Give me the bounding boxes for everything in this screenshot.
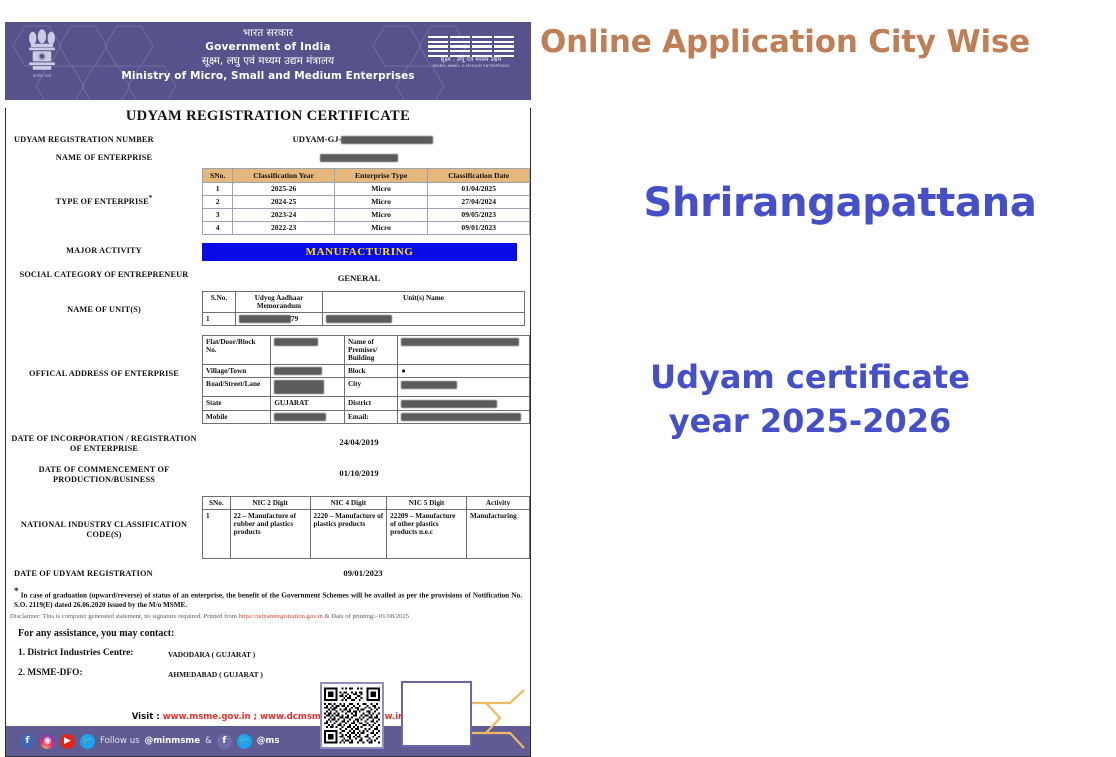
cell-activity: Manufacturing — [467, 509, 530, 558]
major-activity-row: MAJOR ACTIVITY MANUFACTURING — [6, 243, 530, 261]
cell-sno: 4 — [203, 221, 233, 234]
registration-number-label: UDYAM REGISTRATION NUMBER — [6, 134, 210, 145]
redacted-city — [401, 381, 457, 389]
handle-minmsme[interactable]: @minmsme — [145, 736, 200, 746]
promo-city-name: Shrirangapattana — [564, 180, 1116, 226]
redacted-district — [401, 400, 497, 408]
instagram-icon[interactable]: ◉ — [40, 734, 55, 749]
follow-us-text: Follow us — [100, 736, 140, 746]
visit-prefix: Visit : — [132, 712, 163, 722]
registration-number-row: UDYAM REGISTRATION NUMBER UDYAM-GJ- — [6, 134, 530, 145]
major-activity-label: MAJOR ACTIVITY — [6, 243, 202, 256]
table-row: Road/Street/Lane City — [203, 378, 530, 397]
table-row: 2 2024-25 Micro 27/04/2024 — [203, 195, 530, 208]
registration-number-prefix: UDYAM-GJ- — [293, 134, 342, 144]
classification-header-type: Enterprise Type — [334, 168, 428, 182]
nic-table-header-row: SNo. NIC 2 Digit NIC 4 Digit NIC 5 Digit… — [203, 496, 530, 509]
unit-table-header-row: S.No. Udyog Aadhaar Memorandum Unit(s) N… — [203, 291, 525, 312]
enterprise-name-label: NAME OF ENTERPRISE — [6, 152, 202, 163]
promo-subtitle: Udyam certificate year 2025-2026 — [560, 355, 1060, 443]
redacted-registration-number — [341, 136, 433, 144]
cell-uam: 79 — [236, 312, 323, 325]
incorporation-label: DATE OF INCORPORATION / REGISTRATION OF … — [6, 433, 202, 455]
redacted-unit-name — [326, 315, 392, 323]
city-value — [398, 378, 530, 397]
cell-sno: 1 — [203, 509, 231, 558]
enterprise-type-star: * — [149, 194, 153, 202]
enterprise-type-label: TYPE OF ENTERPRISE* — [6, 168, 202, 207]
dic-value: VADODARA ( GUJARAT ) — [168, 648, 255, 659]
road-label: Road/Street/Lane — [203, 378, 271, 397]
state-value: GUJARAT — [271, 397, 345, 410]
cell-sno: 3 — [203, 208, 233, 221]
unit-name-row: NAME OF UNIT(S) S.No. Udyog Aadhaar Memo… — [6, 291, 530, 326]
social-category-row: SOCIAL CATEGORY OF ENTREPRENEUR GENERAL — [6, 269, 530, 283]
flat-value — [271, 336, 345, 365]
cell-year: 2023-24 — [233, 208, 335, 221]
cell-sno: 1 — [203, 312, 236, 325]
udyam-registration-date-row: DATE OF UDYAM REGISTRATION 09/01/2023 — [6, 568, 530, 579]
cell-date: 09/05/2023 — [428, 208, 530, 221]
cell-sno: 1 — [203, 182, 233, 195]
classification-header-sno: SNo. — [203, 168, 233, 182]
nic-row: NATIONAL INDUSTRY CLASSIFICATION CODE(S)… — [6, 496, 530, 559]
nic-table: SNo. NIC 2 Digit NIC 4 Digit NIC 5 Digit… — [202, 496, 530, 559]
udyam-portal-link[interactable]: https://udyamregistration.gov.in — [239, 613, 323, 620]
udyam-registration-date-value: 09/01/2023 — [210, 568, 530, 578]
qr-code-icon — [324, 686, 380, 745]
cell-year: 2025-26 — [233, 182, 335, 195]
uam-suffix: 79 — [291, 315, 298, 323]
incorporation-value: 24/04/2019 — [202, 433, 530, 447]
msme-logo-icon: सूक्ष्म , लघु एवं मध्यम उद्यम MICRO, SMA… — [423, 36, 519, 68]
district-label: District — [344, 397, 397, 410]
table-row: Mobile Email: — [203, 410, 530, 423]
ampersand-text: & — [205, 736, 212, 746]
redacted-road — [274, 380, 324, 394]
udyam-certificate: सत्यमेव जयते भारत सरकार Government of In… — [5, 22, 531, 750]
state-label: State — [203, 397, 271, 410]
unit-name-label: NAME OF UNIT(S) — [6, 291, 202, 315]
facebook-icon-2[interactable]: f — [217, 734, 232, 749]
enterprise-type-row: TYPE OF ENTERPRISE* SNo. Classification … — [6, 168, 530, 235]
cell-year: 2022-23 — [233, 221, 335, 234]
premises-label: Name of Premises/ Building — [344, 336, 397, 365]
classification-header-year: Classification Year — [233, 168, 335, 182]
nic-header-2digit: NIC 2 Digit — [230, 496, 310, 509]
village-label: Village/Town — [203, 365, 271, 378]
address-table: Flat/Door/Block No. Name of Premises/ Bu… — [202, 335, 530, 424]
mobile-value — [271, 410, 345, 423]
incorporation-row: DATE OF INCORPORATION / REGISTRATION OF … — [6, 433, 530, 455]
youtube-icon[interactable]: ▶ — [60, 734, 75, 749]
cell-unit-name — [323, 312, 525, 325]
village-value — [271, 365, 345, 378]
cell-type: Micro — [334, 182, 428, 195]
promo-subtitle-line2: year 2025-2026 — [560, 399, 1060, 443]
classification-table: SNo. Classification Year Enterprise Type… — [202, 168, 530, 235]
redacted-village — [274, 367, 322, 375]
table-row: 1 79 — [203, 312, 525, 325]
table-row: State GUJARAT District — [203, 397, 530, 410]
twitter-icon[interactable]: 🐦 — [80, 734, 95, 749]
udyam-registration-date-label: DATE OF UDYAM REGISTRATION — [6, 568, 210, 579]
handle-msme[interactable]: @ms — [257, 736, 280, 746]
redacted-premises — [401, 338, 519, 346]
dfo-label: 2. MSME-DFO: — [18, 668, 168, 679]
cell-year: 2024-25 — [233, 195, 335, 208]
major-activity-value: MANUFACTURING — [202, 243, 517, 261]
address-label: OFFICAL ADDRESS OF ENTERPRISE — [6, 335, 202, 379]
block-value: ● — [398, 365, 530, 378]
disclaimer-text: Disclaimer: This is computer generated s… — [10, 613, 526, 620]
table-row: 4 2022-23 Micro 09/01/2023 — [203, 221, 530, 234]
social-category-label: SOCIAL CATEGORY OF ENTREPRENEUR — [6, 269, 202, 280]
commencement-row: DATE OF COMMENCEMENT OF PRODUCTION/BUSIN… — [6, 464, 530, 486]
email-value — [398, 410, 530, 423]
enterprise-name-row: NAME OF ENTERPRISE — [6, 152, 530, 163]
enterprise-type-label-text: TYPE OF ENTERPRISE — [56, 196, 149, 205]
road-value — [271, 378, 345, 397]
promo-panel: Online Application City Wise Shrirangapa… — [540, 0, 1116, 753]
cell-date: 27/04/2024 — [428, 195, 530, 208]
dfo-value: AHMEDABAD ( GUJARAT ) — [168, 668, 263, 679]
disclaimer-prefix: Disclaimer: This is computer generated s… — [10, 613, 239, 620]
cell-type: Micro — [334, 221, 428, 234]
disclaimer-suffix: & Date of printing:- 01/08/2025 — [323, 613, 409, 620]
table-row: Village/Town Block ● — [203, 365, 530, 378]
cell-type: Micro — [334, 195, 428, 208]
cell-nic2: 22 – Manufacture of rubber and plastics … — [230, 509, 310, 558]
redacted-enterprise-name — [320, 154, 398, 162]
dic-label: 1. District Industries Centre: — [18, 648, 168, 659]
unit-header-name: Unit(s) Name — [323, 291, 525, 312]
unit-header-uam: Udyog Aadhaar Memorandum — [236, 291, 323, 312]
footnote-text: In case of graduation (upward/reverse) o… — [14, 591, 522, 609]
cell-nic5: 22209 – Manufacture of other plastics pr… — [387, 509, 467, 558]
unit-table: S.No. Udyog Aadhaar Memorandum Unit(s) N… — [202, 291, 525, 326]
table-row: 1 22 – Manufacture of rubber and plastic… — [203, 509, 530, 558]
address-row: OFFICAL ADDRESS OF ENTERPRISE Flat/Door/… — [6, 335, 530, 424]
cell-date: 01/04/2025 — [428, 182, 530, 195]
district-value — [398, 397, 530, 410]
mobile-label: Mobile — [203, 410, 271, 423]
social-category-value: GENERAL — [202, 269, 530, 283]
enterprise-name-value — [202, 152, 530, 162]
promo-title: Online Application City Wise — [540, 24, 1116, 60]
msme-logo-english: MICRO, SMALL & MEDIUM ENTERPRISES — [423, 64, 519, 68]
classification-table-wrap: SNo. Classification Year Enterprise Type… — [202, 168, 530, 235]
nic-label: NATIONAL INDUSTRY CLASSIFICATION CODE(S) — [6, 496, 202, 541]
premises-value — [398, 336, 530, 365]
email-label: Email: — [344, 410, 397, 423]
redacted-mobile — [274, 413, 326, 421]
footnote-star-icon: * — [14, 586, 19, 596]
qr-code[interactable] — [320, 682, 384, 749]
twitter-icon-2[interactable]: 🐦 — [237, 734, 252, 749]
contact-row-dic: 1. District Industries Centre: VADODARA … — [18, 648, 530, 659]
redacted-uam — [239, 315, 291, 323]
table-row: 1 2025-26 Micro 01/04/2025 — [203, 182, 530, 195]
cell-sno: 2 — [203, 195, 233, 208]
table-row: Flat/Door/Block No. Name of Premises/ Bu… — [203, 336, 530, 365]
promo-subtitle-line1: Udyam certificate — [560, 355, 1060, 399]
commencement-label: DATE OF COMMENCEMENT OF PRODUCTION/BUSIN… — [6, 464, 202, 486]
assistance-heading: For any assistance, you may contact: — [18, 628, 530, 639]
city-label: City — [344, 378, 397, 397]
commencement-value: 01/10/2019 — [202, 464, 530, 478]
redacted-email — [401, 413, 521, 421]
unit-header-sno: S.No. — [203, 291, 236, 312]
facebook-icon[interactable]: f — [20, 734, 35, 749]
graduation-footnote: * In case of graduation (upward/reverse)… — [14, 585, 522, 611]
contact-row-dfo: 2. MSME-DFO: AHMEDABAD ( GUJARAT ) — [18, 668, 530, 679]
nic-header-4digit: NIC 4 Digit — [310, 496, 387, 509]
certificate-body: UDYAM REGISTRATION CERTIFICATE UDYAM REG… — [5, 108, 531, 757]
cell-nic4: 2220 – Manufacture of plastics products — [310, 509, 387, 558]
nic-header-5digit: NIC 5 Digit — [387, 496, 467, 509]
classification-table-header-row: SNo. Classification Year Enterprise Type… — [203, 168, 530, 182]
flat-label: Flat/Door/Block No. — [203, 336, 271, 365]
redacted-flat — [274, 338, 318, 346]
government-banner: सत्यमेव जयते भारत सरकार Government of In… — [5, 22, 531, 100]
cell-date: 09/01/2023 — [428, 221, 530, 234]
cell-type: Micro — [334, 208, 428, 221]
nic-header-sno: SNo. — [203, 496, 231, 509]
signature-placeholder-box — [401, 681, 472, 747]
block-label: Block — [344, 365, 397, 378]
banner-english-line-2: Ministry of Micro, Small and Medium Ente… — [5, 69, 531, 83]
classification-header-date: Classification Date — [428, 168, 530, 182]
table-row: 3 2023-24 Micro 09/05/2023 — [203, 208, 530, 221]
nic-header-activity: Activity — [467, 496, 530, 509]
certificate-title: UDYAM REGISTRATION CERTIFICATE — [6, 108, 530, 125]
registration-number-value: UDYAM-GJ- — [210, 134, 530, 144]
